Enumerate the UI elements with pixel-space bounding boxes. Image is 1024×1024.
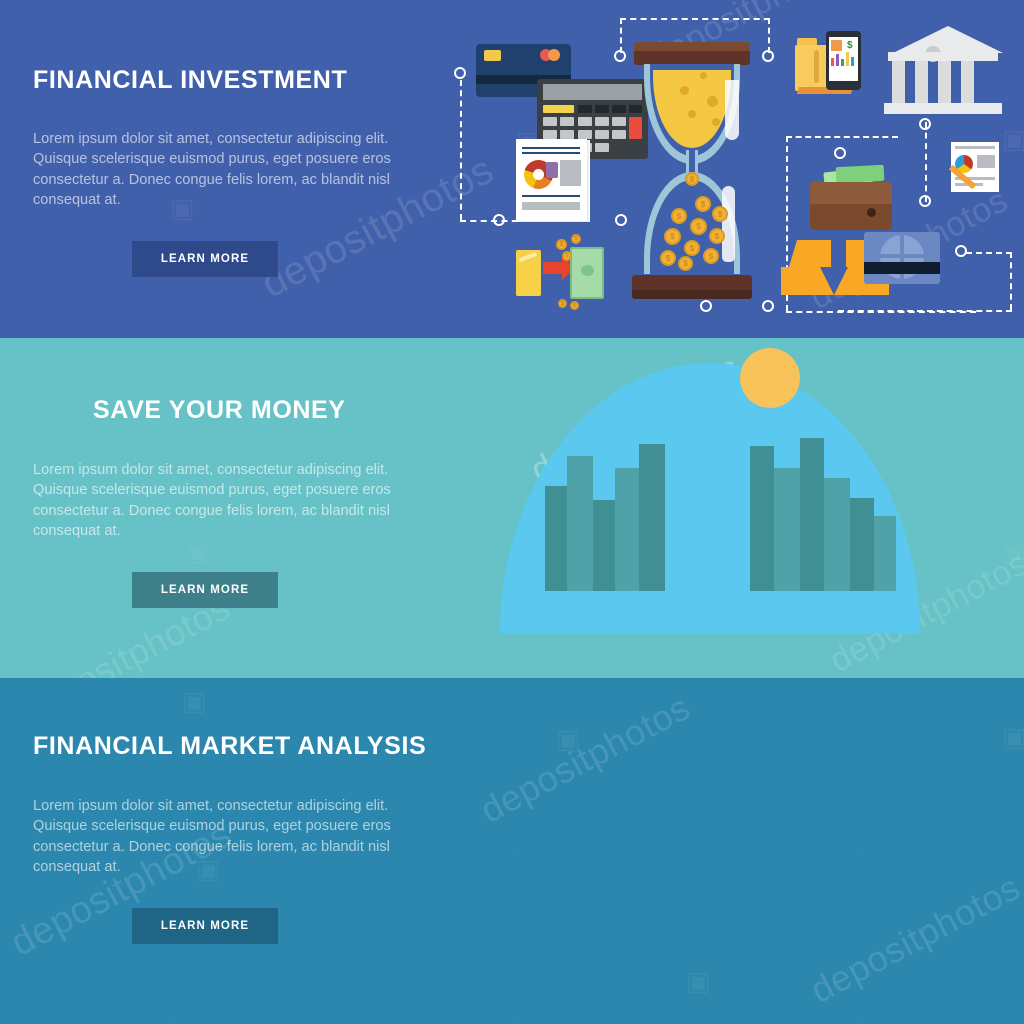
- city-building: [874, 516, 896, 591]
- dash-node: [614, 50, 626, 62]
- coin-icon: $: [571, 234, 581, 244]
- folder-clip: [814, 50, 819, 83]
- gold-bar: [797, 240, 831, 267]
- doc-image-block: [977, 155, 995, 168]
- coin-icon: $: [570, 301, 579, 310]
- dash-node: [955, 245, 967, 257]
- body-text: Lorem ipsum dolor sit amet, consectetur …: [33, 460, 393, 542]
- city-building: [774, 468, 800, 591]
- phone-bar: [846, 52, 849, 66]
- banner-financial-market-analysis: $ $: [0, 678, 1024, 1024]
- calculator-key: [578, 117, 592, 126]
- banknote-seal: [581, 265, 594, 276]
- coin-icon: $: [556, 239, 567, 250]
- calculator-key: [612, 105, 626, 113]
- card-chip-icon: [484, 50, 501, 61]
- calculator-key: [612, 130, 626, 139]
- coin-icon: $: [678, 256, 693, 271]
- glass-highlight: [722, 186, 735, 262]
- page-title: FINANCIAL INVESTMENT: [33, 68, 453, 93]
- calculator-key: [629, 105, 642, 113]
- pie-hole: [533, 169, 544, 180]
- banner-financial-investment: $ $ $ $ $ $ $ $ $ $: [0, 0, 1024, 338]
- coin-icon: $: [562, 251, 572, 261]
- banner-copy-1: FINANCIAL INVESTMENT Lorem ipsum dolor s…: [33, 0, 453, 277]
- cash-bill: [836, 165, 885, 183]
- coin-icon: $: [690, 218, 707, 235]
- sand-coin: [680, 86, 689, 95]
- dash-line: [1010, 252, 1012, 310]
- page-title: SAVE YOUR MONEY: [93, 398, 453, 423]
- coin-icon: $: [684, 240, 700, 256]
- city-building: [615, 468, 639, 591]
- dash-node: [834, 147, 846, 159]
- dash-node: [615, 214, 627, 226]
- calculator-key: [595, 130, 609, 139]
- coin-icon: $: [558, 299, 567, 308]
- coin-icon: $: [664, 228, 681, 245]
- body-text: Lorem ipsum dolor sit amet, consectetur …: [33, 129, 393, 211]
- doc-line: [522, 195, 580, 197]
- dash-node: [762, 300, 774, 312]
- banner-save-your-money: BANK: [0, 338, 1024, 678]
- calculator-display: [543, 84, 642, 100]
- dash-node: [493, 214, 505, 226]
- gold-gap: [820, 267, 848, 295]
- coin-icon: $: [685, 172, 699, 186]
- dash-line: [460, 80, 462, 220]
- dash-node: [762, 50, 774, 62]
- sand-coin: [707, 96, 718, 107]
- city-building: [800, 438, 824, 591]
- calculator-key: [595, 143, 609, 152]
- phone-bar: [836, 54, 839, 66]
- city-building: [824, 478, 850, 591]
- dash-line: [786, 136, 898, 138]
- dash-node: [700, 300, 712, 312]
- calculator-key: [595, 117, 609, 126]
- dash-line: [966, 252, 1012, 254]
- dash-line: [620, 18, 622, 53]
- coin-icon: $: [695, 196, 711, 212]
- bank-pediment: [893, 26, 1003, 53]
- bank-entablature: [888, 52, 998, 61]
- coin-icon: $: [703, 248, 719, 264]
- city-building: [545, 486, 567, 591]
- sand-coin: [688, 110, 696, 118]
- dash-line: [838, 310, 1012, 312]
- calculator-key: [560, 117, 574, 126]
- sun-icon: [740, 348, 800, 408]
- sand-coin: [700, 72, 707, 79]
- calculator-key: [543, 117, 557, 126]
- coin-icon: $: [712, 206, 728, 222]
- doc-line: [955, 146, 995, 149]
- sand-coin: [712, 118, 720, 126]
- calculator-key: [578, 105, 592, 113]
- city-building: [750, 446, 774, 591]
- doc-line: [522, 152, 580, 154]
- hourglass-cap-highlight: [634, 42, 750, 51]
- calculator-key: [578, 130, 592, 139]
- dash-node: [454, 67, 466, 79]
- learn-more-button[interactable]: LEARN MORE: [132, 572, 278, 608]
- doc-bar: [522, 202, 580, 210]
- banner-copy-2: SAVE YOUR MONEY Lorem ipsum dolor sit am…: [33, 338, 453, 608]
- arrow-icon: [543, 262, 563, 274]
- city-building: [639, 444, 665, 591]
- bank-column: [892, 61, 905, 103]
- bank-column: [961, 61, 974, 103]
- city-building: [567, 456, 593, 591]
- bank-base: [884, 103, 1002, 114]
- dash-line: [925, 122, 927, 202]
- calculator-key: [612, 117, 626, 126]
- coin-icon: $: [709, 228, 725, 244]
- banner-set: $ $ $ $ $ $ $ $ $ $: [0, 0, 1024, 1024]
- card-logo-icon: [548, 49, 560, 61]
- calculator-key: [543, 130, 557, 139]
- dash-node: [919, 118, 931, 130]
- phone-widget: [831, 40, 842, 51]
- dash-line: [620, 18, 770, 20]
- phone-bar: [851, 57, 854, 66]
- calculator-key: [543, 105, 574, 113]
- body-text: Lorem ipsum dolor sit amet, consectetur …: [33, 796, 393, 878]
- dollar-sign-icon: $: [847, 40, 854, 51]
- card-magstripe: [864, 262, 940, 274]
- calculator-key: [560, 130, 574, 139]
- calculator-key: [629, 117, 642, 139]
- learn-more-button[interactable]: LEARN MORE: [132, 241, 278, 277]
- banner-copy-3: FINANCIAL MARKET ANALYSIS Lorem ipsum do…: [33, 678, 453, 944]
- wallet-flap: [810, 204, 892, 230]
- phone-bar: [841, 59, 844, 66]
- calculator-key: [595, 105, 609, 113]
- bank-column: [915, 61, 928, 103]
- dash-line: [768, 18, 770, 53]
- globe-equator: [880, 254, 924, 258]
- city-building: [593, 500, 615, 591]
- coin-icon: $: [671, 208, 687, 224]
- city-building: [850, 498, 874, 591]
- dash-node: [919, 195, 931, 207]
- wallet-clasp: [867, 208, 876, 217]
- phone-bar: [831, 58, 834, 66]
- page-title: FINANCIAL MARKET ANALYSIS: [33, 734, 453, 759]
- pie-slice-detached: [546, 162, 558, 178]
- doc-line: [522, 147, 580, 149]
- learn-more-button[interactable]: LEARN MORE: [132, 908, 278, 944]
- doc-image-block: [560, 160, 581, 186]
- coin-icon: $: [660, 250, 676, 266]
- bank-column: [938, 61, 951, 103]
- glass-highlight: [725, 80, 739, 140]
- hourglass-cap-shadow: [632, 290, 752, 299]
